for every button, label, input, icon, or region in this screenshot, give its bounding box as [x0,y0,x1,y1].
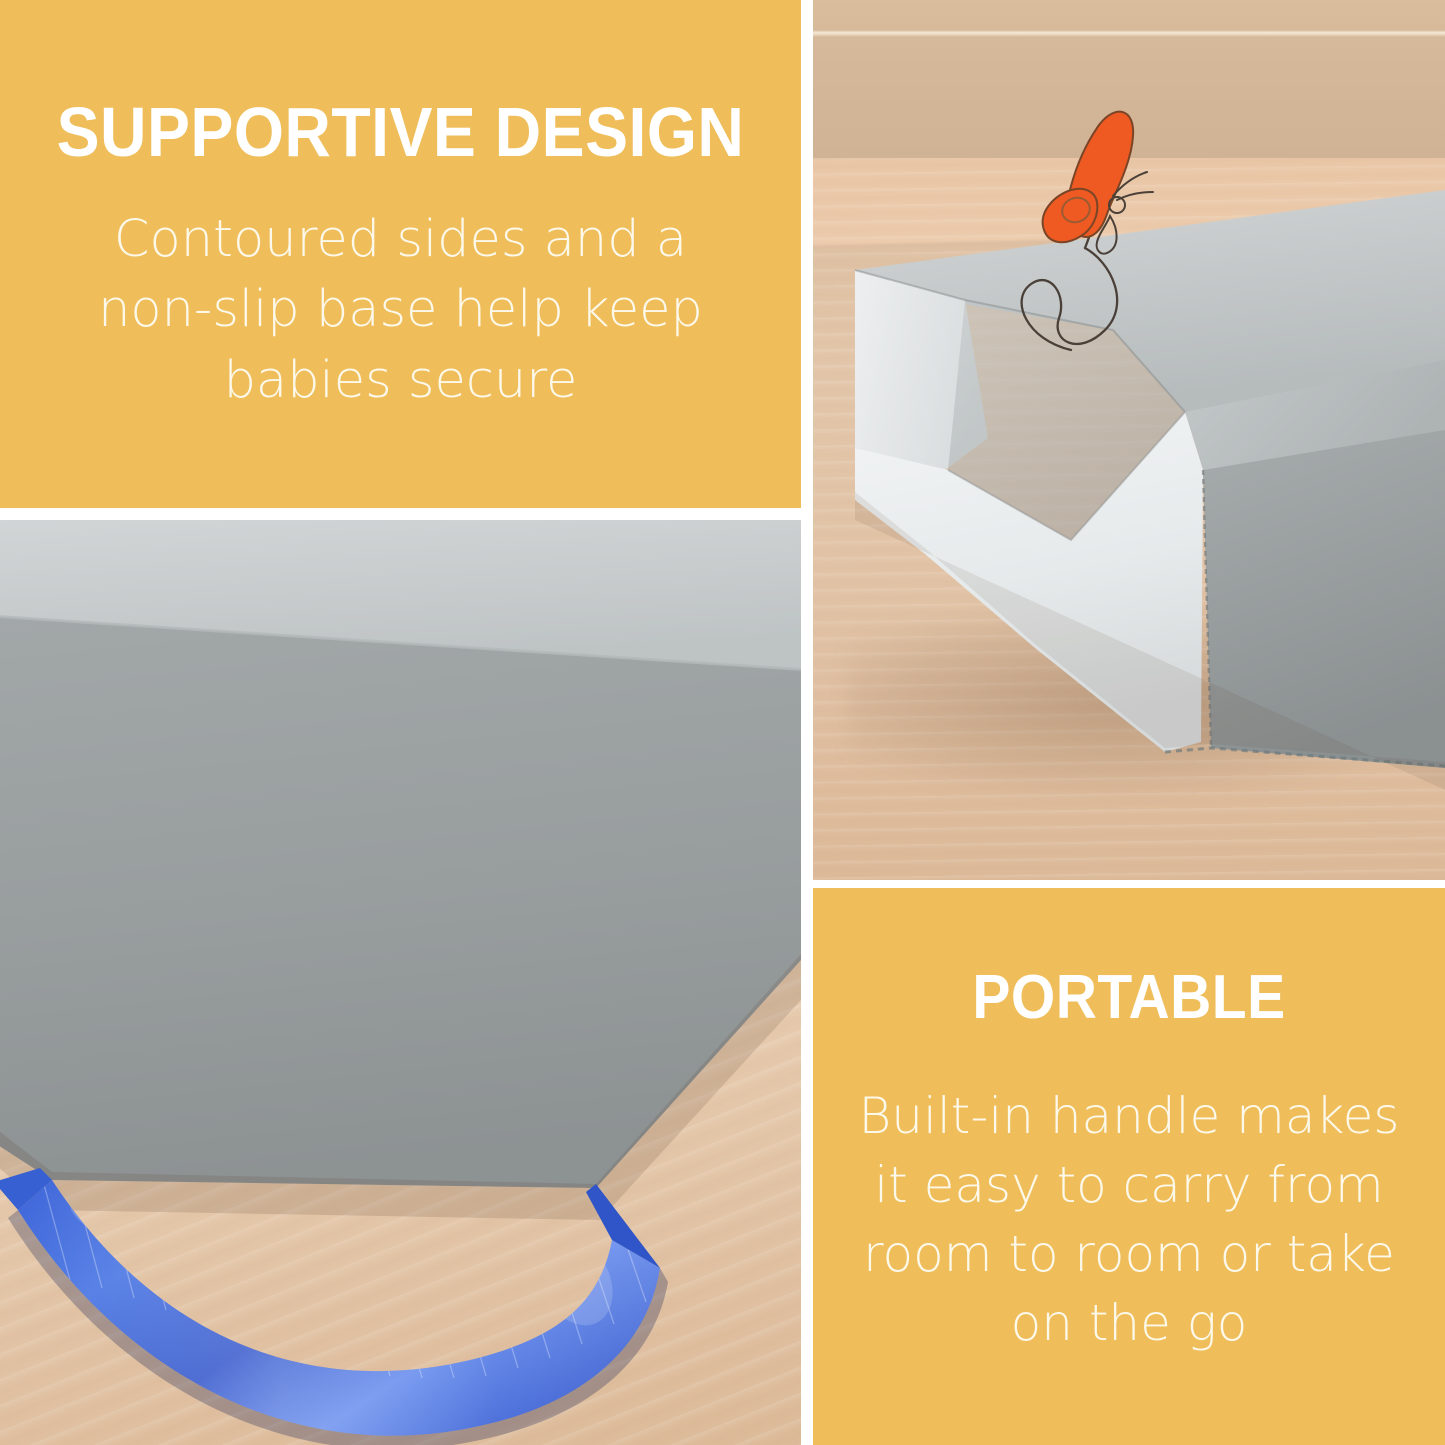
panel-supportive-design: SUPPORTIVE DESIGN Contoured sides and a … [0,0,801,508]
panel-product-photo [813,0,1445,880]
supportive-body-text: Contoured sides and a non-slip base help… [0,205,801,416]
portable-body-text: Built-in handle makes it easy to carry f… [813,1082,1445,1358]
supportive-heading: SUPPORTIVE DESIGN [32,92,769,172]
feature-collage: SUPPORTIVE DESIGN Contoured sides and a … [0,0,1445,1445]
changing-pad-illustration [813,0,1445,880]
panel-portable: PORTABLE Built-in handle makes it easy t… [813,888,1445,1445]
panel-handle-photo [0,520,801,1445]
portable-heading: PORTABLE [838,962,1419,1033]
pad-handle-illustration [0,520,801,1445]
